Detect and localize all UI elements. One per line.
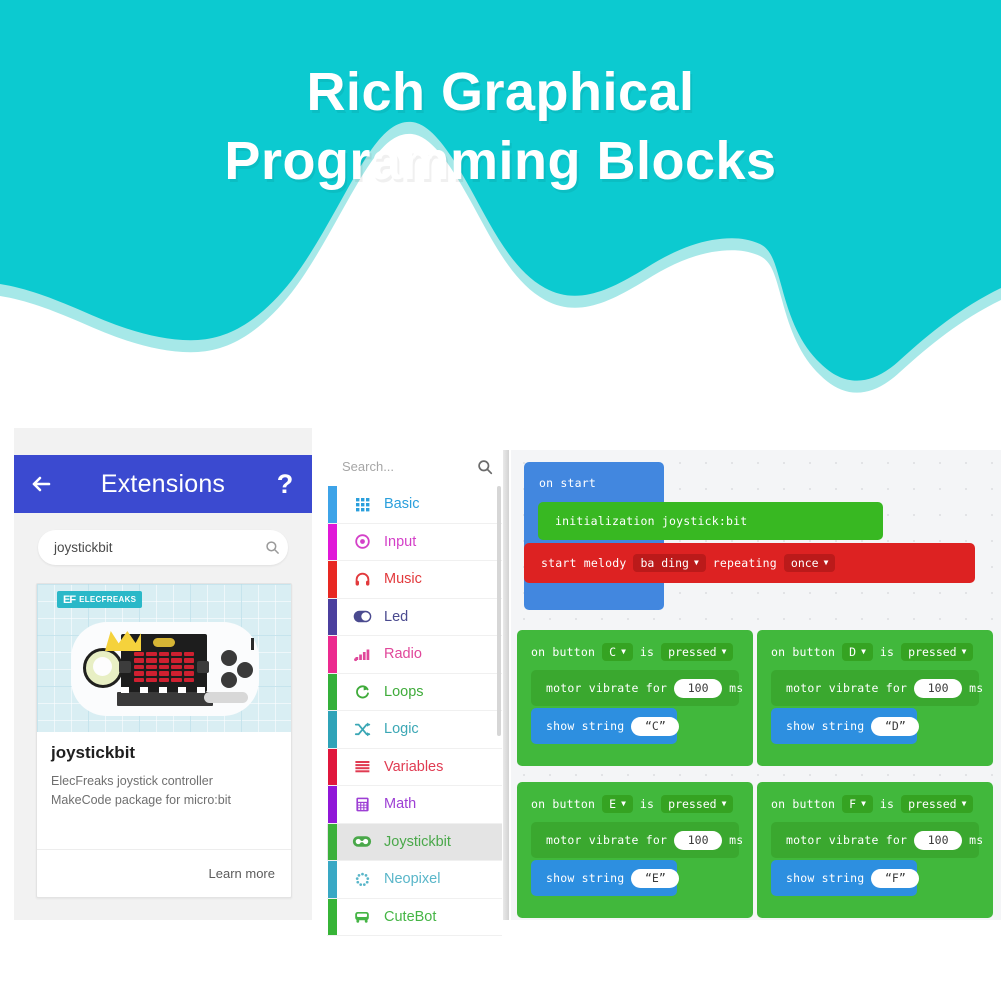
show-string-prefix: show string <box>546 719 624 733</box>
chevron-down-icon: ▼ <box>722 648 727 656</box>
joystickbit-device-illustration <box>71 622 259 716</box>
toolbox-item-label: Input <box>384 534 416 550</box>
extension-card[interactable]: EF ELECFREAKS <box>36 583 292 898</box>
category-color-bar <box>328 486 337 523</box>
button-dropdown-value: C <box>609 645 616 659</box>
on-button-prefix: on button <box>531 645 595 659</box>
motor-vibrate-suffix: ms <box>729 681 743 695</box>
category-color-bar <box>328 599 337 636</box>
extension-description: ElecFreaks joystick controller MakeCode … <box>51 772 277 809</box>
toolbox-category-list: BasicInputMusicLedRadioLoopsLogicVariabl… <box>327 486 502 936</box>
category-color-bar <box>328 861 337 898</box>
toolbox-item-radio[interactable]: Radio <box>327 636 502 674</box>
toolbox-item-logic[interactable]: Logic <box>327 711 502 749</box>
toolbox-item-cutebot[interactable]: CuteBot <box>327 899 502 937</box>
vibrate-duration-input[interactable]: 100 <box>914 679 962 698</box>
toolbox-item-label: Neopixel <box>384 871 440 887</box>
makecode-editor-screenshot: Extensions ? joystickbit EF ELECFREAKS <box>0 428 1001 938</box>
chevron-down-icon: ▼ <box>694 559 699 567</box>
motor-vibrate-suffix: ms <box>969 833 983 847</box>
toolbox-scrollbar[interactable] <box>497 486 501 736</box>
on-button-prefix: on button <box>771 645 835 659</box>
show-string-prefix: show string <box>786 871 864 885</box>
repeat-dropdown[interactable]: once ▼ <box>784 554 836 572</box>
block-motor-vibrate[interactable]: motor vibrate for100ms <box>531 822 739 858</box>
start-melody-label: start melody <box>541 556 626 570</box>
joystick-stick <box>83 648 123 688</box>
event-dropdown[interactable]: pressed▼ <box>661 795 733 813</box>
blocks-workspace[interactable]: on start initialization joystick:bit sta… <box>511 450 1001 920</box>
dots-circle-icon <box>349 871 375 888</box>
event-dropdown[interactable]: pressed▼ <box>901 643 973 661</box>
toolbox-item-led[interactable]: Led <box>327 599 502 637</box>
extension-description-line-1: ElecFreaks joystick controller <box>51 772 277 791</box>
joystick-icon <box>349 835 375 848</box>
motor-vibrate-prefix: motor vibrate for <box>546 833 667 847</box>
show-string-prefix: show string <box>786 719 864 733</box>
chevron-down-icon: ▼ <box>962 800 967 808</box>
board-button-b <box>197 661 209 673</box>
button-dropdown-value: D <box>849 645 856 659</box>
on-button-prefix: on button <box>771 797 835 811</box>
is-label: is <box>880 645 894 659</box>
car-icon <box>349 909 375 924</box>
extensions-search-value: joystickbit <box>38 540 256 555</box>
vibrate-duration-input[interactable]: 100 <box>674 831 722 850</box>
is-label: is <box>880 797 894 811</box>
button-dropdown[interactable]: F▼ <box>842 795 873 813</box>
chevron-down-icon: ▼ <box>861 800 866 808</box>
toolbox-item-label: Loops <box>384 684 424 700</box>
block-on-button-d-pressed[interactable]: on buttonD▼ispressed▼motor vibrate for10… <box>757 630 993 766</box>
grid-icon <box>349 496 375 513</box>
headphone-icon <box>349 571 375 588</box>
block-show-string[interactable]: show string“C” <box>531 708 677 744</box>
is-label: is <box>640 645 654 659</box>
event-dropdown-value: pressed <box>908 645 956 659</box>
toolbox-search-field[interactable]: Search... <box>327 450 502 483</box>
toolbox-search-placeholder: Search... <box>327 459 468 474</box>
search-icon[interactable] <box>468 459 502 475</box>
target-icon <box>349 533 375 550</box>
motor-vibrate-suffix: ms <box>969 681 983 695</box>
help-icon[interactable]: ? <box>258 455 312 513</box>
toolbox-item-label: Radio <box>384 646 422 662</box>
title-line-1: Rich Graphical <box>0 58 1001 127</box>
toolbox-panel: Search... BasicInputMusicLedRadioLoopsLo… <box>327 428 502 920</box>
extensions-title: Extensions <box>68 470 258 499</box>
extension-name: joystickbit <box>51 743 277 763</box>
block-motor-vibrate[interactable]: motor vibrate for100ms <box>771 822 979 858</box>
extensions-header: Extensions ? <box>14 455 312 513</box>
category-color-bar <box>328 561 337 598</box>
button-dropdown[interactable]: D▼ <box>842 643 873 661</box>
microbit-board <box>121 634 207 692</box>
event-dropdown[interactable]: pressed▼ <box>661 643 733 661</box>
category-color-bar <box>328 711 337 748</box>
page-title: Rich Graphical Programming Blocks <box>0 58 1001 196</box>
calculator-icon <box>349 796 375 813</box>
edge-connector <box>117 692 213 706</box>
chevron-down-icon: ▼ <box>861 648 866 656</box>
block-on-button-c-pressed[interactable]: on buttonC▼ispressed▼motor vibrate for10… <box>517 630 753 766</box>
microbit-logo-pad <box>153 638 175 647</box>
initialization-label: initialization joystick:bit <box>555 514 747 528</box>
bottom-whitespace <box>0 938 1001 1001</box>
elecfreaks-wordmark: ELECFREAKS <box>79 595 136 604</box>
block-show-string[interactable]: show string“D” <box>771 708 917 744</box>
toolbox-item-label: Math <box>384 796 416 812</box>
toolbox-item-loops[interactable]: Loops <box>327 674 502 712</box>
repeating-label: repeating <box>713 556 777 570</box>
arrow-left-icon[interactable] <box>14 455 68 513</box>
category-color-bar <box>328 674 337 711</box>
is-label: is <box>640 797 654 811</box>
chevron-down-icon: ▼ <box>722 800 727 808</box>
toolbox-item-input[interactable]: Input <box>327 524 502 562</box>
event-dropdown[interactable]: pressed▼ <box>901 795 973 813</box>
toolbox-item-label: Logic <box>384 721 419 737</box>
toggle-icon <box>349 610 375 623</box>
shuffle-icon <box>349 721 375 738</box>
extensions-panel: Extensions ? joystickbit EF ELECFREAKS <box>14 428 312 920</box>
elecfreaks-mark: EF <box>63 594 75 606</box>
hero-banner: Rich Graphical Programming Blocks <box>0 0 1001 420</box>
toolbox-item-music[interactable]: Music <box>327 561 502 599</box>
show-string-input[interactable]: “C” <box>631 717 679 736</box>
joystickbit-label-tag <box>204 692 248 703</box>
show-string-input[interactable]: “E” <box>631 869 679 888</box>
chevron-down-icon: ▼ <box>621 800 626 808</box>
toolbox-item-variables[interactable]: Variables <box>327 749 502 787</box>
board-button-a <box>119 661 131 673</box>
vibrate-duration-input[interactable]: 100 <box>914 831 962 850</box>
extension-description-line-2: MakeCode package for micro:bit <box>51 791 277 810</box>
led-matrix <box>134 652 194 682</box>
on-button-prefix: on button <box>531 797 595 811</box>
motor-vibrate-prefix: motor vibrate for <box>786 833 907 847</box>
workspace-divider[interactable] <box>503 450 509 920</box>
block-on-button-e-pressed[interactable]: on buttonE▼ispressed▼motor vibrate for10… <box>517 782 753 918</box>
event-dropdown-value: pressed <box>908 797 956 811</box>
toolbox-item-math[interactable]: Math <box>327 786 502 824</box>
category-color-bar <box>328 749 337 786</box>
title-line-2: Programming Blocks <box>0 127 1001 196</box>
category-color-bar <box>328 636 337 673</box>
repeat-dropdown-value: once <box>791 556 819 570</box>
block-motor-vibrate[interactable]: motor vibrate for100ms <box>771 670 979 706</box>
extension-card-body: joystickbit ElecFreaks joystick controll… <box>37 732 291 809</box>
block-motor-vibrate[interactable]: motor vibrate for100ms <box>531 670 739 706</box>
toolbox-item-joystickbit[interactable]: Joystickbit <box>327 824 502 862</box>
melody-dropdown-value: ba ding <box>640 556 688 570</box>
round-button-3 <box>221 672 237 688</box>
button-dropdown-value: E <box>609 797 616 811</box>
learn-more-link[interactable]: Learn more <box>209 866 275 881</box>
block-show-string[interactable]: show string“F” <box>771 860 917 896</box>
extension-preview-image: EF ELECFREAKS <box>37 584 291 732</box>
block-initialization-joystickbit[interactable]: initialization joystick:bit <box>538 502 883 540</box>
show-string-input[interactable]: “F” <box>871 869 919 888</box>
vibrate-duration-input[interactable]: 100 <box>674 679 722 698</box>
extension-card-footer: Learn more <box>37 849 291 897</box>
button-dropdown-value: F <box>849 797 856 811</box>
block-start-melody[interactable]: start melody ba ding ▼ repeating once ▼ <box>524 543 975 583</box>
extensions-search-field[interactable]: joystickbit <box>38 530 288 565</box>
lines-icon <box>349 758 375 775</box>
search-icon[interactable] <box>256 530 288 565</box>
toolbox-item-label: Basic <box>384 496 419 512</box>
motor-vibrate-prefix: motor vibrate for <box>546 681 667 695</box>
antenna <box>251 638 254 650</box>
toolbox-item-label: Joystickbit <box>384 834 451 850</box>
toolbox-item-label: Variables <box>384 759 443 775</box>
toolbox-item-neopixel[interactable]: Neopixel <box>327 861 502 899</box>
show-string-prefix: show string <box>546 871 624 885</box>
toolbox-item-label: Music <box>384 571 422 587</box>
button-dropdown[interactable]: E▼ <box>602 795 633 813</box>
category-color-bar <box>328 786 337 823</box>
motor-vibrate-suffix: ms <box>729 833 743 847</box>
on-start-label: on start <box>539 476 596 490</box>
chevron-down-icon: ▼ <box>962 648 967 656</box>
elecfreaks-logo: EF ELECFREAKS <box>57 591 142 608</box>
toolbox-item-basic[interactable]: Basic <box>327 486 502 524</box>
block-show-string[interactable]: show string“E” <box>531 860 677 896</box>
yellow-accent <box>105 631 141 651</box>
round-button-2 <box>237 662 253 678</box>
toolbox-item-label: Led <box>384 609 408 625</box>
loop-icon <box>349 683 375 700</box>
show-string-input[interactable]: “D” <box>871 717 919 736</box>
melody-dropdown[interactable]: ba ding ▼ <box>633 554 705 572</box>
round-button-1 <box>221 650 237 666</box>
signal-icon <box>349 646 375 662</box>
chevron-down-icon: ▼ <box>824 559 829 567</box>
motor-vibrate-prefix: motor vibrate for <box>786 681 907 695</box>
chevron-down-icon: ▼ <box>621 648 626 656</box>
category-color-bar <box>328 899 337 936</box>
category-color-bar <box>328 824 337 861</box>
event-dropdown-value: pressed <box>668 645 716 659</box>
block-on-button-f-pressed[interactable]: on buttonF▼ispressed▼motor vibrate for10… <box>757 782 993 918</box>
button-dropdown[interactable]: C▼ <box>602 643 633 661</box>
toolbox-item-label: CuteBot <box>384 909 436 925</box>
category-color-bar <box>328 524 337 561</box>
event-dropdown-value: pressed <box>668 797 716 811</box>
